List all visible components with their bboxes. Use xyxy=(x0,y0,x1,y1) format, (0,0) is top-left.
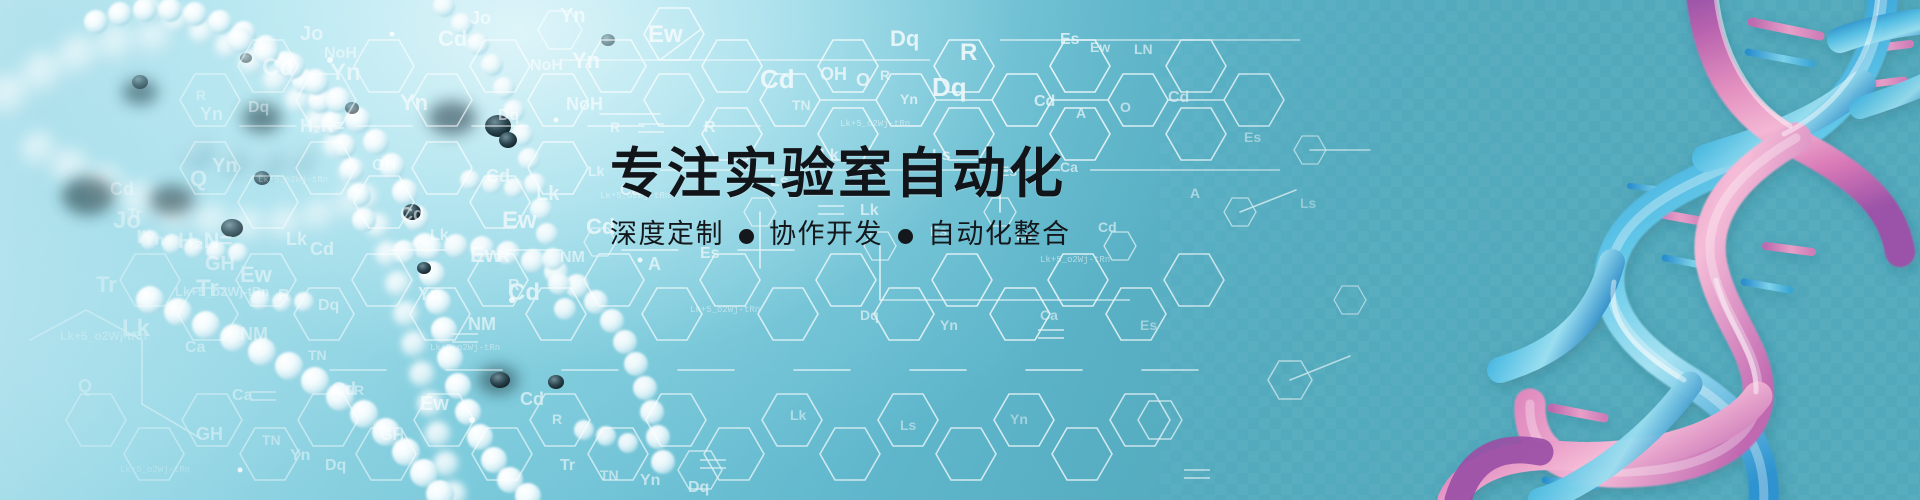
subtitle-segment-1: 深度定制 xyxy=(610,220,724,250)
bullet-dot-icon xyxy=(739,229,754,244)
banner-subtitle: 深度定制 协作开发 自动化整合 xyxy=(610,220,1310,250)
banner-copy: 专注实验室自动化 深度定制 协作开发 自动化整合 xyxy=(610,146,1310,250)
subtitle-segment-2: 协作开发 xyxy=(769,220,883,250)
bullet-dot-icon xyxy=(898,229,913,244)
dna-double-helix xyxy=(0,0,1920,500)
subtitle-segment-3: 自动化整合 xyxy=(928,220,1071,250)
lab-automation-banner: Tr Tr Jo Tr r Lk+5_o2Wj-tRn Lk+5_o2Wj-tR… xyxy=(0,0,1920,500)
page-title: 专注实验室自动化 xyxy=(610,146,1310,202)
